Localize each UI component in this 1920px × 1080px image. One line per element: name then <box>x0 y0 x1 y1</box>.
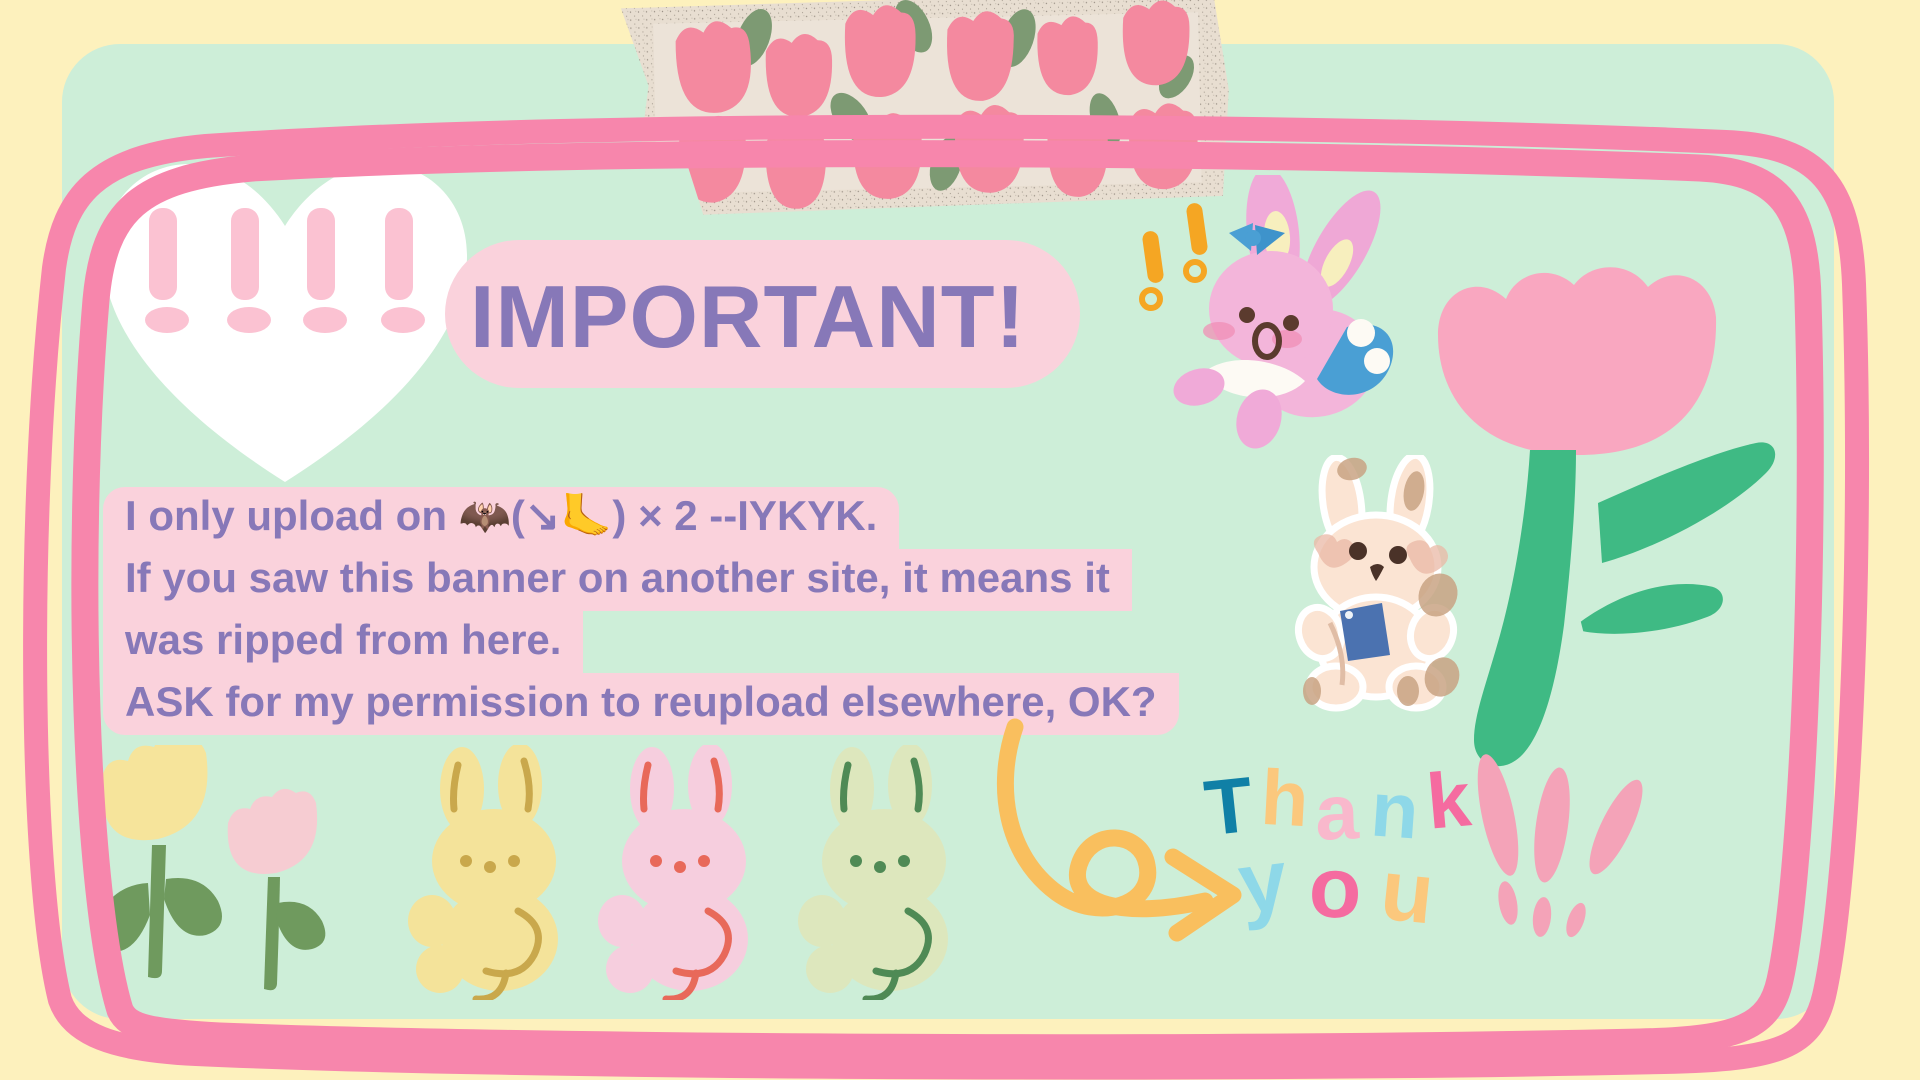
sitting-bunny-with-phone <box>1270 455 1490 715</box>
gummy-bunny-green <box>790 745 980 1000</box>
message-block: I only upload on 🦇(↘🦶) × 2 --IYKYK. If y… <box>103 487 1203 735</box>
tulip-pink <box>228 789 326 990</box>
gummy-bunny-pink <box>590 745 780 1000</box>
gummy-bunny-yellow <box>400 745 590 1000</box>
ty-letter: u <box>1376 841 1439 945</box>
ty-letter: k <box>1423 753 1474 847</box>
message-line: was ripped from here. <box>103 611 583 673</box>
thank-you-lettering: T h a n k y o u <box>1205 755 1525 965</box>
message-line: I only upload on 🦇(↘🦶) × 2 --IYKYK. <box>103 487 899 549</box>
tulip-yellow <box>93 745 222 978</box>
ty-letter: o <box>1307 838 1363 939</box>
white-heart-with-exclamations <box>95 150 475 495</box>
page-title: IMPORTANT! <box>470 262 1090 372</box>
ty-letter: y <box>1233 830 1293 934</box>
tulip-pair-small <box>88 745 358 1000</box>
flying-bunny-character <box>1125 175 1425 475</box>
banner-canvas: IMPORTANT! <box>0 0 1920 1080</box>
message-line: If you saw this banner on another site, … <box>103 549 1132 611</box>
